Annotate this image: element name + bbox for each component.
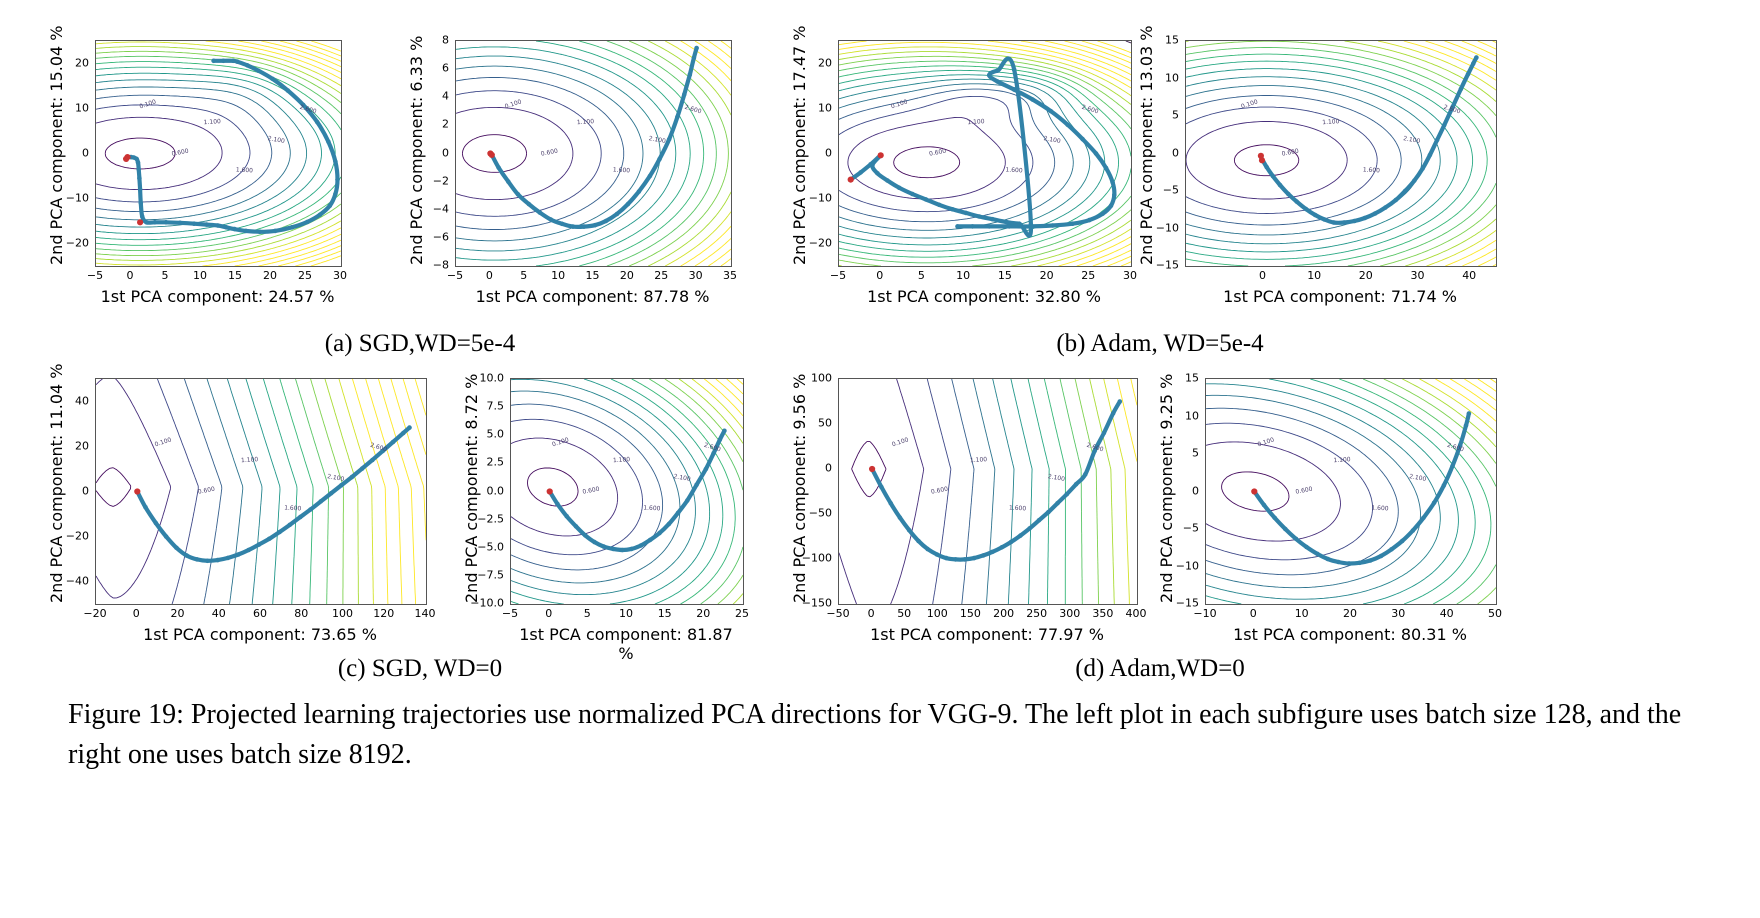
contour-line <box>1075 379 1099 604</box>
y-tick-label: 20 <box>818 56 832 69</box>
contour-line <box>848 117 1005 198</box>
contour-label: 1.600 <box>613 167 631 175</box>
y-tick-label: 20 <box>75 439 89 452</box>
trajectory-point <box>1435 138 1440 143</box>
trajectory-point <box>1012 87 1017 92</box>
contour-line <box>1493 41 1496 43</box>
y-tick-label: −20 <box>809 236 832 249</box>
y-tick-label: 20 <box>75 56 89 69</box>
y-tick-label: −10 <box>1176 559 1199 572</box>
trajectory-point <box>1428 153 1433 158</box>
y-tick-label: 40 <box>75 394 89 407</box>
x-tick-label: 0 <box>545 607 552 620</box>
trajectory-point <box>401 431 406 436</box>
contour-line <box>973 379 995 604</box>
trajectory-point <box>935 552 940 557</box>
x-tick-label: −5 <box>447 269 463 282</box>
x-tick-label: 15 <box>658 607 672 620</box>
trajectory-point <box>1264 165 1269 170</box>
trajectory-point <box>1342 220 1347 225</box>
trajectory-point <box>1087 218 1092 223</box>
trajectory-point <box>1421 516 1426 521</box>
contour-line <box>839 89 1055 222</box>
trajectory-point <box>944 556 949 561</box>
trajectory-point <box>1403 189 1408 194</box>
trajectory-point <box>339 483 344 488</box>
trajectory-point <box>224 225 229 230</box>
y-tick-label: −15 <box>1156 259 1179 272</box>
trajectory-point <box>1000 545 1005 550</box>
trajectory-point <box>937 203 942 208</box>
trajectory-point <box>692 56 697 61</box>
contour-label: 2.100 <box>1403 135 1421 145</box>
x-tick-label: 80 <box>294 607 308 620</box>
subfigure-caption-a: (a) SGD,WD=5e-4 <box>160 330 680 358</box>
trajectory-point <box>1271 174 1276 179</box>
contour-line <box>511 438 618 536</box>
minimum-marker <box>134 488 140 494</box>
trajectory-point <box>174 546 179 551</box>
x-tick-label: 300 <box>1059 607 1080 620</box>
trajectory-point <box>1411 528 1416 533</box>
y-tick-label: −2 <box>433 174 449 187</box>
contour-line <box>1206 395 1421 587</box>
contour-line <box>839 379 924 604</box>
trajectory-point <box>1112 193 1117 198</box>
trajectory-point <box>298 515 303 520</box>
y-tick-label: 50 <box>818 417 832 430</box>
y-tick-label: 0 <box>1192 484 1199 497</box>
contour-svg-adam-wd5e4-bs8192: 0.1000.6001.1001.6002.1002.600 <box>1186 41 1496 266</box>
trajectory-point <box>139 201 144 206</box>
contour-line <box>1131 379 1137 405</box>
contour-label: 1.100 <box>1333 456 1351 464</box>
trajectory-point <box>885 178 890 183</box>
minimum-marker <box>137 219 143 225</box>
trajectory-point <box>333 159 338 164</box>
trajectory-point <box>1029 224 1034 229</box>
contour-label: 1.100 <box>577 118 595 126</box>
y-axis-label-sgd-wd0-bs8192: 2nd PCA component: 8.72 % <box>462 378 481 603</box>
contour-svg-adam-wd0-bs8192: 0.1000.6001.1001.6002.1002.600 <box>1206 379 1496 604</box>
contour-line <box>157 379 198 604</box>
trajectory-point <box>1027 526 1032 531</box>
contour-label: 0.100 <box>154 436 173 448</box>
contour-svg-sgd-wd0-bs8192: 0.1000.6001.1001.6002.1002.600 <box>511 379 743 604</box>
trajectory-point <box>154 521 159 526</box>
x-tick-label: 20 <box>171 607 185 620</box>
trajectory-point <box>1007 224 1012 229</box>
contour-line <box>894 147 960 178</box>
x-axis-label-sgd-wd5e4-bs8192: 1st PCA component: 87.78 % <box>455 287 730 306</box>
contour-line <box>246 379 280 604</box>
trajectory-point <box>1065 492 1070 497</box>
x-axis-ticks-sgd-wd5e4-bs128: −5051015202530 <box>95 269 340 285</box>
y-tick-label: −10 <box>809 191 832 204</box>
contour-line <box>1186 61 1473 259</box>
plot-area-adam-wd5e4-bs8192: 0.1000.6001.1001.6002.1002.600 <box>1185 40 1497 267</box>
trajectory-point <box>648 538 653 543</box>
trajectory-point <box>333 192 338 197</box>
y-axis-label-sgd-wd0-bs128: 2nd PCA component: 11.04 % <box>47 378 66 603</box>
contour-line <box>579 41 704 266</box>
trajectory-point <box>1074 482 1079 487</box>
contour-label: 0.600 <box>1295 486 1313 496</box>
trajectory-point <box>256 68 261 73</box>
trajectory-point <box>277 530 282 535</box>
x-axis-label-adam-wd0-bs128: 1st PCA component: 77.97 % <box>838 625 1136 644</box>
trajectory-point <box>246 548 251 553</box>
trajectory-point <box>143 505 148 510</box>
contour-label: 0.100 <box>890 98 909 110</box>
contour-label: 0.600 <box>1281 148 1299 158</box>
contour-label: 0.100 <box>139 98 158 110</box>
contour-line <box>1491 379 1496 383</box>
contour-label: 2.100 <box>1409 473 1427 483</box>
trajectory-point <box>987 224 992 229</box>
plot-area-adam-wd0-bs128: 0.1000.6001.1001.6002.1002.600 <box>838 378 1138 605</box>
trajectory-point <box>549 217 554 222</box>
trajectory-point <box>592 540 597 545</box>
x-tick-label: 400 <box>1126 607 1147 620</box>
contour-line <box>366 379 402 604</box>
x-axis-label-adam-wd0-bs8192: 1st PCA component: 80.31 % <box>1205 625 1495 644</box>
x-axis-ticks-sgd-wd0-bs8192: −50510152025 <box>510 607 742 623</box>
plot-area-sgd-wd0-bs128: 0.1000.6001.1001.6002.1002.600 <box>95 378 427 605</box>
contour-label: 0.600 <box>582 486 600 496</box>
contour-label: 2.100 <box>327 473 345 483</box>
y-tick-label: 10 <box>818 101 832 114</box>
trajectory-point <box>153 220 158 225</box>
x-tick-label: 0 <box>486 269 493 282</box>
trajectory-point <box>1432 501 1437 506</box>
trajectory-point <box>637 189 642 194</box>
trajectory-point <box>245 63 250 68</box>
trajectory-point <box>657 531 662 536</box>
trajectory-point <box>144 220 149 225</box>
y-axis-label-adam-wd5e4-bs8192: 2nd PCA component: 13.03 % <box>1137 40 1156 265</box>
contour-line <box>96 117 222 189</box>
trajectory-point <box>1018 533 1023 538</box>
trajectory-point <box>215 558 220 563</box>
trajectory-point <box>192 221 197 226</box>
contour-line <box>391 379 426 540</box>
trajectory-point <box>1394 198 1399 203</box>
trajectory-point <box>318 212 323 217</box>
x-tick-label: 15 <box>228 269 242 282</box>
trajectory-point <box>496 165 501 170</box>
trajectory-point <box>329 491 334 496</box>
y-tick-label: −6 <box>433 230 449 243</box>
trajectory-line <box>872 402 1120 560</box>
trajectory-point <box>1294 537 1299 542</box>
trajectory-point <box>315 120 320 125</box>
contour-label: 1.100 <box>241 456 259 464</box>
trajectory-point <box>582 224 587 229</box>
contour-svg-adam-wd0-bs128: 0.1000.6001.1001.6002.1002.600 <box>839 379 1137 604</box>
trajectory-point <box>685 498 690 503</box>
contour-label: 2.600 <box>1081 104 1100 116</box>
trajectory-point <box>977 214 982 219</box>
trajectory-point <box>1442 123 1447 128</box>
y-tick-label: −7.5 <box>477 568 504 581</box>
trajectory-point <box>527 202 532 207</box>
trajectory-point <box>1080 137 1085 142</box>
y-tick-label: −5 <box>1183 522 1199 535</box>
y-tick-label: 0 <box>825 462 832 475</box>
contour-label: 0.100 <box>1240 98 1259 110</box>
trajectory-point <box>1050 223 1055 228</box>
figure-19-panel-grid: 0.1000.6001.1001.6002.1002.60020100−10−2… <box>0 0 1760 918</box>
trajectory-point <box>1278 183 1283 188</box>
y-tick-label: −5 <box>1163 184 1179 197</box>
x-axis-ticks-sgd-wd5e4-bs8192: −505101520253035 <box>455 269 730 285</box>
trajectory-point <box>221 59 226 64</box>
contour-label: 1.100 <box>970 456 988 464</box>
x-tick-label: 30 <box>1411 269 1425 282</box>
trajectory-point <box>1450 464 1455 469</box>
contour-label: 1.600 <box>1009 505 1027 513</box>
x-tick-label: 25 <box>654 269 668 282</box>
contour-line <box>379 379 416 604</box>
y-tick-label: −2.5 <box>477 512 504 525</box>
y-axis-label-sgd-wd5e4-bs8192: 2nd PCA component: 6.33 % <box>407 40 426 265</box>
trajectory-point <box>602 544 607 549</box>
trajectory-point <box>964 211 969 216</box>
trajectory-point <box>1118 399 1123 404</box>
contour-line <box>839 56 1131 266</box>
trajectory-point <box>290 225 295 230</box>
trajectory-point <box>1464 423 1469 428</box>
y-tick-label: 0 <box>1172 146 1179 159</box>
y-tick-label: −5.0 <box>477 540 504 553</box>
contour-line <box>1206 423 1373 560</box>
contour-label: 2.600 <box>1443 104 1462 116</box>
y-tick-label: 10.0 <box>480 372 505 385</box>
contour-svg-sgd-wd0-bs128: 0.1000.6001.1001.6002.1002.600 <box>96 379 426 604</box>
contour-label: 1.600 <box>1005 167 1023 175</box>
trajectory-point <box>407 425 412 430</box>
trajectory-point <box>620 548 625 553</box>
contour-label: 0.100 <box>551 436 570 448</box>
y-axis-label-adam-wd0-bs8192: 2nd PCA component: 9.25 % <box>1157 378 1176 603</box>
trajectory-point <box>1313 213 1318 218</box>
trajectory-point <box>560 222 565 227</box>
trajectory-point <box>319 499 324 504</box>
trajectory-point <box>875 171 880 176</box>
contour-label: 0.600 <box>540 148 558 158</box>
x-axis-ticks-adam-wd5e4-bs128: −5051015202530 <box>838 269 1130 285</box>
contour-label: 0.100 <box>891 436 910 448</box>
x-tick-label: 10 <box>193 269 207 282</box>
trajectory-point <box>990 550 995 555</box>
contour-label: 2.100 <box>1043 135 1061 145</box>
trajectory-point <box>571 224 576 229</box>
contour-label: 0.600 <box>929 148 947 158</box>
contour-line <box>1425 41 1496 266</box>
trajectory-point <box>722 429 727 434</box>
x-tick-label: −5 <box>830 269 846 282</box>
y-tick-label: 0 <box>825 146 832 159</box>
trajectory-point <box>288 523 293 528</box>
trajectory-point <box>1420 166 1425 171</box>
contour-label: 1.600 <box>643 505 661 513</box>
x-tick-label: 10 <box>956 269 970 282</box>
x-tick-label: 5 <box>520 269 527 282</box>
x-axis-label-sgd-wd5e4-bs128: 1st PCA component: 24.57 % <box>95 287 340 306</box>
trajectory-point <box>335 177 340 182</box>
contour-label: 2.100 <box>1047 473 1065 483</box>
y-tick-label: 0 <box>82 484 89 497</box>
trajectory-point <box>1412 178 1417 183</box>
trajectory-point <box>981 553 986 558</box>
trajectory-point <box>1294 199 1299 204</box>
contour-label: 2.600 <box>684 104 703 116</box>
y-tick-label: −20 <box>66 236 89 249</box>
y-tick-label: 4 <box>442 90 449 103</box>
contour-line <box>1478 41 1496 49</box>
contour-line <box>296 379 329 604</box>
contour-line <box>727 379 743 394</box>
subfigure-caption-b: (b) Adam, WD=5e-4 <box>900 330 1420 358</box>
trajectory-point <box>953 557 958 562</box>
minimum-marker <box>878 152 884 158</box>
minimum-marker <box>848 177 854 183</box>
x-tick-label: −20 <box>83 607 106 620</box>
x-tick-label: 20 <box>696 607 710 620</box>
trajectory-point <box>1322 217 1327 222</box>
trajectory-point <box>925 547 930 552</box>
x-tick-label: 20 <box>1359 269 1373 282</box>
contour-label: 1.600 <box>236 167 254 175</box>
x-tick-label: −5 <box>502 607 518 620</box>
minimum-marker <box>123 156 129 162</box>
x-tick-label: 10 <box>1295 607 1309 620</box>
y-tick-label: 100 <box>811 372 832 385</box>
y-tick-label: 15 <box>1165 34 1179 47</box>
contour-line <box>1464 379 1496 401</box>
trajectory-point <box>185 553 190 558</box>
x-tick-label: 40 <box>212 607 226 620</box>
trajectory-point <box>888 501 893 506</box>
x-tick-label: 10 <box>619 607 633 620</box>
contour-line <box>665 41 731 266</box>
x-tick-label: 5 <box>918 269 925 282</box>
plot-area-sgd-wd0-bs8192: 0.1000.6001.1001.6002.1002.600 <box>510 378 744 605</box>
trajectory-point <box>615 212 620 217</box>
contour-line <box>1186 77 1440 244</box>
contour-line <box>708 41 731 266</box>
contour-line <box>96 47 341 261</box>
contour-line <box>1090 379 1115 604</box>
trajectory-point <box>963 557 968 562</box>
trajectory-point <box>1471 61 1476 66</box>
trajectory-point <box>898 515 903 520</box>
trajectory-point <box>258 230 263 235</box>
contour-line <box>415 379 426 415</box>
trajectory-point <box>1111 411 1116 416</box>
trajectory-point <box>1017 221 1022 226</box>
trajectory-point <box>140 214 145 219</box>
trajectory-point <box>308 507 313 512</box>
contour-line <box>1011 379 1032 604</box>
trajectory-point <box>205 559 210 564</box>
trajectory-point <box>1100 212 1105 217</box>
y-tick-label: 2.5 <box>487 456 505 469</box>
x-axis-ticks-adam-wd0-bs8192: −1001020304050 <box>1205 607 1495 623</box>
y-tick-label: 2 <box>442 118 449 131</box>
contour-line <box>1186 41 1496 266</box>
minimum-marker <box>869 466 875 472</box>
contour-line <box>1186 69 1457 252</box>
y-tick-label: −20 <box>66 529 89 542</box>
x-tick-label: 0 <box>868 607 875 620</box>
trajectory-point <box>694 46 699 51</box>
plot-area-adam-wd0-bs8192: 0.1000.6001.1001.6002.1002.600 <box>1205 378 1497 605</box>
trajectory-point <box>1083 472 1088 477</box>
trajectory-point <box>270 77 275 82</box>
trajectory-point <box>506 179 511 184</box>
figure-caption: Figure 19: Projected learning trajectori… <box>68 695 1698 775</box>
contour-label: 0.600 <box>930 486 948 496</box>
contour-svg-adam-wd5e4-bs128: 0.1000.6001.1001.6002.1002.600 <box>839 41 1131 266</box>
trajectory-point <box>995 79 1000 84</box>
trajectory-point <box>370 458 375 463</box>
trajectory-point <box>910 192 915 197</box>
trajectory-point <box>593 223 598 228</box>
x-tick-label: 40 <box>1462 269 1476 282</box>
y-tick-label: 10 <box>1165 71 1179 84</box>
subfigure-caption-d: (d) Adam,WD=0 <box>900 655 1420 683</box>
contour-label: 1.600 <box>1363 167 1381 175</box>
trajectory-point <box>1109 203 1114 208</box>
contour-label: 1.100 <box>613 456 631 464</box>
trajectory-point <box>232 227 237 232</box>
trajectory-point <box>1272 516 1277 521</box>
contour-line <box>96 42 341 265</box>
trajectory-point <box>972 556 977 561</box>
y-tick-label: 5.0 <box>487 428 505 441</box>
trajectory-point <box>244 229 249 234</box>
y-tick-label: −10 <box>66 191 89 204</box>
trajectory-point <box>226 556 231 561</box>
trajectory-point <box>1070 221 1075 226</box>
trajectory-point <box>555 502 560 507</box>
y-tick-label: 0 <box>442 146 449 159</box>
contour-label: 1.100 <box>967 118 985 126</box>
trajectory-point <box>1049 109 1054 114</box>
trajectory-point <box>328 203 333 208</box>
x-tick-label: 120 <box>373 607 394 620</box>
trajectory-point <box>267 537 272 542</box>
y-tick-label: 10 <box>75 101 89 114</box>
trajectory-point <box>1474 55 1479 60</box>
trajectory-point <box>639 543 644 548</box>
trajectory-point <box>604 219 609 224</box>
x-tick-label: 0 <box>1250 607 1257 620</box>
trajectory-point <box>136 167 141 172</box>
trajectory-point <box>1459 87 1464 92</box>
trajectory-point <box>704 467 709 472</box>
trajectory-line <box>851 58 1115 235</box>
trajectory-point <box>235 59 240 64</box>
contour-label: 0.600 <box>197 486 215 496</box>
trajectory-point <box>1400 539 1405 544</box>
x-tick-label: 25 <box>298 269 312 282</box>
trajectory-point <box>688 73 693 78</box>
trajectory-point <box>1004 220 1009 225</box>
trajectory-point <box>657 157 662 162</box>
